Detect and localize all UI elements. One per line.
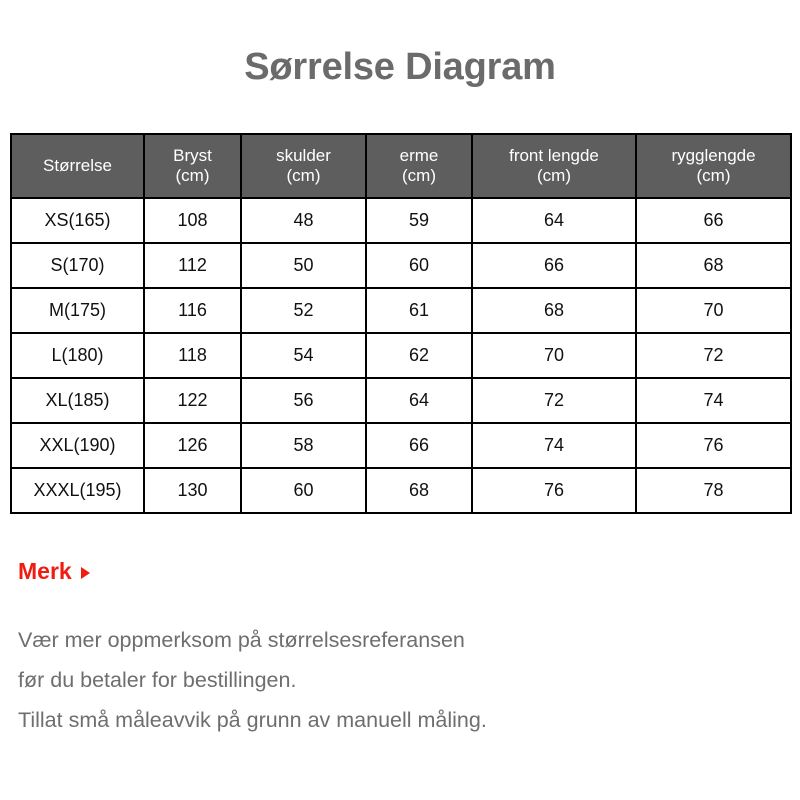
cell-bryst: 112 — [144, 243, 241, 288]
page-title: Sørrelse Diagram — [0, 47, 800, 89]
cell-front-lengde: 72 — [472, 378, 636, 423]
cell-size: L(180) — [11, 333, 144, 378]
column-header-unit: (cm) — [697, 166, 731, 185]
cell-erme: 59 — [366, 198, 472, 243]
cell-bryst: 108 — [144, 198, 241, 243]
cell-erme: 62 — [366, 333, 472, 378]
column-header-label: Bryst — [173, 146, 212, 165]
note-heading-label: Merk — [18, 558, 72, 585]
column-header-unit: (cm) — [537, 166, 571, 185]
column-header-label: skulder — [276, 146, 331, 165]
column-header-label: erme — [400, 146, 439, 165]
cell-rygglengde: 72 — [636, 333, 791, 378]
table-row: XL(185) 122 56 64 72 74 — [11, 378, 791, 423]
cell-front-lengde: 66 — [472, 243, 636, 288]
cell-rygglengde: 70 — [636, 288, 791, 333]
cell-front-lengde: 76 — [472, 468, 636, 513]
cell-bryst: 122 — [144, 378, 241, 423]
cell-bryst: 126 — [144, 423, 241, 468]
cell-erme: 60 — [366, 243, 472, 288]
note-line: Vær mer oppmerksom på størrelsesreferans… — [18, 620, 780, 660]
cell-skulder: 58 — [241, 423, 366, 468]
size-chart-page: Sørrelse Diagram Størrelse Bryst (cm) sk — [0, 0, 800, 800]
column-header-erme: erme (cm) — [366, 134, 472, 198]
table-body: XS(165) 108 48 59 64 66 S(170) 112 50 60… — [11, 198, 791, 513]
cell-size: XS(165) — [11, 198, 144, 243]
cell-skulder: 54 — [241, 333, 366, 378]
cell-rygglengde: 76 — [636, 423, 791, 468]
cell-rygglengde: 66 — [636, 198, 791, 243]
cell-size: S(170) — [11, 243, 144, 288]
cell-front-lengde: 74 — [472, 423, 636, 468]
cell-size: M(175) — [11, 288, 144, 333]
note-heading: Merk — [18, 558, 90, 585]
column-header-unit: (cm) — [287, 166, 321, 185]
cell-front-lengde: 70 — [472, 333, 636, 378]
cell-erme: 66 — [366, 423, 472, 468]
table-row: XS(165) 108 48 59 64 66 — [11, 198, 791, 243]
cell-skulder: 60 — [241, 468, 366, 513]
cell-bryst: 116 — [144, 288, 241, 333]
cell-size: XL(185) — [11, 378, 144, 423]
cell-skulder: 56 — [241, 378, 366, 423]
cell-erme: 64 — [366, 378, 472, 423]
table-row: S(170) 112 50 60 66 68 — [11, 243, 791, 288]
column-header-label: Størrelse — [43, 156, 112, 175]
table-row: L(180) 118 54 62 70 72 — [11, 333, 791, 378]
cell-skulder: 48 — [241, 198, 366, 243]
cell-size: XXL(190) — [11, 423, 144, 468]
column-header-rygglengde: rygglengde (cm) — [636, 134, 791, 198]
cell-skulder: 50 — [241, 243, 366, 288]
table-row: XXXL(195) 130 60 68 76 78 — [11, 468, 791, 513]
cell-bryst: 118 — [144, 333, 241, 378]
column-header-unit: (cm) — [176, 166, 210, 185]
column-header-front-lengde: front lengde (cm) — [472, 134, 636, 198]
column-header-bryst: Bryst (cm) — [144, 134, 241, 198]
note-text-block: Vær mer oppmerksom på størrelsesreferans… — [18, 620, 780, 740]
cell-erme: 61 — [366, 288, 472, 333]
triangle-right-icon — [81, 567, 90, 579]
cell-rygglengde: 68 — [636, 243, 791, 288]
note-line: Tillat små måleavvik på grunn av manuell… — [18, 700, 780, 740]
size-table: Størrelse Bryst (cm) skulder (cm) erme (… — [10, 133, 792, 514]
note-line: før du betaler for bestillingen. — [18, 660, 780, 700]
table-header: Størrelse Bryst (cm) skulder (cm) erme (… — [11, 134, 791, 198]
size-table-container: Størrelse Bryst (cm) skulder (cm) erme (… — [10, 133, 790, 514]
table-row: M(175) 116 52 61 68 70 — [11, 288, 791, 333]
column-header-storrelse: Størrelse — [11, 134, 144, 198]
column-header-skulder: skulder (cm) — [241, 134, 366, 198]
column-header-unit: (cm) — [402, 166, 436, 185]
cell-front-lengde: 68 — [472, 288, 636, 333]
cell-skulder: 52 — [241, 288, 366, 333]
cell-erme: 68 — [366, 468, 472, 513]
cell-size: XXXL(195) — [11, 468, 144, 513]
cell-rygglengde: 74 — [636, 378, 791, 423]
table-header-row: Størrelse Bryst (cm) skulder (cm) erme (… — [11, 134, 791, 198]
table-row: XXL(190) 126 58 66 74 76 — [11, 423, 791, 468]
column-header-label: rygglengde — [671, 146, 755, 165]
cell-front-lengde: 64 — [472, 198, 636, 243]
cell-rygglengde: 78 — [636, 468, 791, 513]
cell-bryst: 130 — [144, 468, 241, 513]
column-header-label: front lengde — [509, 146, 599, 165]
